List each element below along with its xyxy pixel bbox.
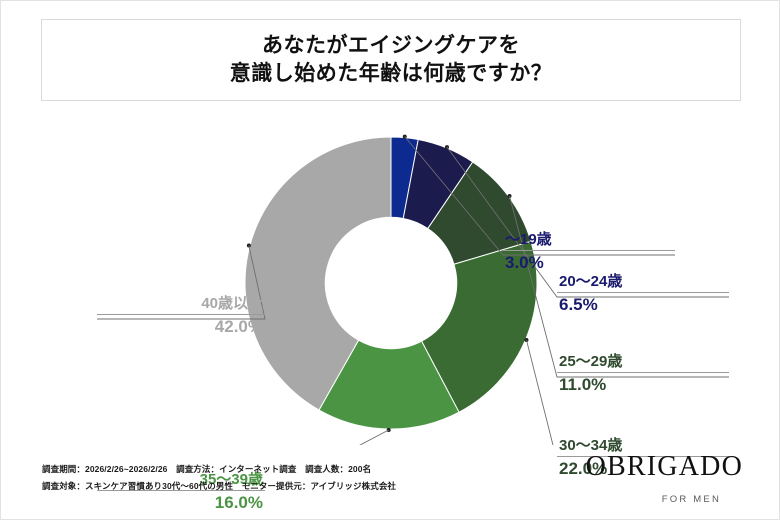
callout-value-5: 42.0% [97,315,265,337]
callout-value-0: 3.0% [503,251,675,273]
footnote-line-2: 調査対象：スキンケア習慣あり30代〜60代の男性 モニター提供元：アイブリッジ株… [42,478,462,495]
callout-category-1: 20〜24歳 [557,273,729,292]
callout-value-2: 11.0% [557,373,729,395]
callout-label-5: 40歳以上 42.0% [97,295,265,338]
brand-name: OBRIGADO [543,453,743,481]
title-line-1: あなたがエイジングケアを [262,32,520,60]
brand-logo: OBRIGADO FOR MEN [543,453,743,505]
footer: 調査期間：2026/2/26~2026/2/26 調査方法：インターネット調査 … [1,451,780,520]
footnote-line-1: 調査期間：2026/2/26~2026/2/26 調査方法：インターネット調査 … [42,461,462,478]
callout-label-1: 20〜24歳 6.5% [557,273,729,316]
callout-category-0: 〜19歳 [503,231,675,250]
survey-footnotes: 調査期間：2026/2/26~2026/2/26 調査方法：インターネット調査 … [42,461,462,494]
callout-category-5: 40歳以上 [97,295,265,314]
callout-label-2: 25〜29歳 11.0% [557,353,729,396]
donut-slices [245,137,537,429]
title-box: あなたがエイジングケアを 意識し始めた年齢は何歳ですか？ [41,19,741,101]
title-line-2: 意識し始めた年齢は何歳ですか？ [230,60,553,88]
infographic-page: あなたがエイジングケアを 意識し始めた年齢は何歳ですか？ 〜19歳 3.0% 2… [0,0,780,520]
brand-tagline: FOR MEN [543,494,721,505]
callout-value-1: 6.5% [557,293,729,315]
callout-label-0: 〜19歳 3.0% [503,231,675,274]
leader-line [97,430,389,445]
callout-category-2: 25〜29歳 [557,353,729,372]
donut-chart-area: 〜19歳 3.0% 20〜24歳 6.5% 25〜29歳 11.0% 30〜34… [1,105,780,445]
